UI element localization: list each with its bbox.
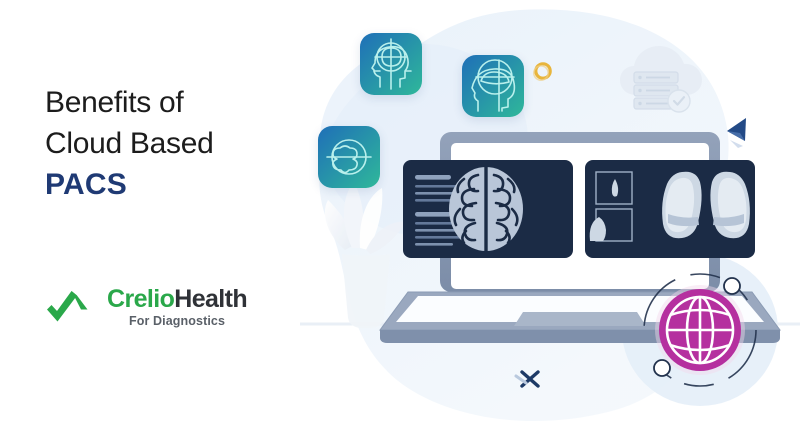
potted-plant-decoration <box>325 182 406 328</box>
head-profile-brain-icon[interactable] <box>462 55 524 117</box>
headline-accent-pacs: PACS <box>45 164 315 205</box>
logo-word-crelio: Crelio <box>107 285 174 313</box>
cross-mark-icon <box>516 372 538 386</box>
headline-line-1: Benefits of <box>45 82 315 123</box>
logo-tagline: For Diagnostics <box>107 315 247 328</box>
cloud-pacs-illustration <box>290 0 800 435</box>
headline-line-2: Cloud Based <box>45 123 315 164</box>
logo-word-health: Health <box>174 285 247 313</box>
logo-text-block: CrelioHealth For Diagnostics <box>107 287 247 328</box>
lung-scan-panel <box>585 160 755 258</box>
brain-scan-panel <box>403 160 573 258</box>
axial-brain-slice-icon[interactable] <box>318 126 380 188</box>
poster-canvas: Benefits of Cloud Based PACS CrelioHealt… <box>0 0 800 435</box>
globe-network-icon <box>644 274 756 386</box>
crelio-health-logo: CrelioHealth For Diagnostics <box>46 287 247 328</box>
cloud-server-check-icon <box>620 46 702 112</box>
brain-top-view-scan <box>449 167 523 251</box>
head-brain-scan-icon[interactable] <box>360 33 422 95</box>
logo-wordmark: CrelioHealth <box>107 285 247 313</box>
green-checkmark-logo-mark <box>46 290 98 324</box>
gold-ring-icon <box>534 64 550 80</box>
paper-plane-icon <box>727 118 746 148</box>
page-title: Benefits of Cloud Based PACS <box>45 82 315 205</box>
